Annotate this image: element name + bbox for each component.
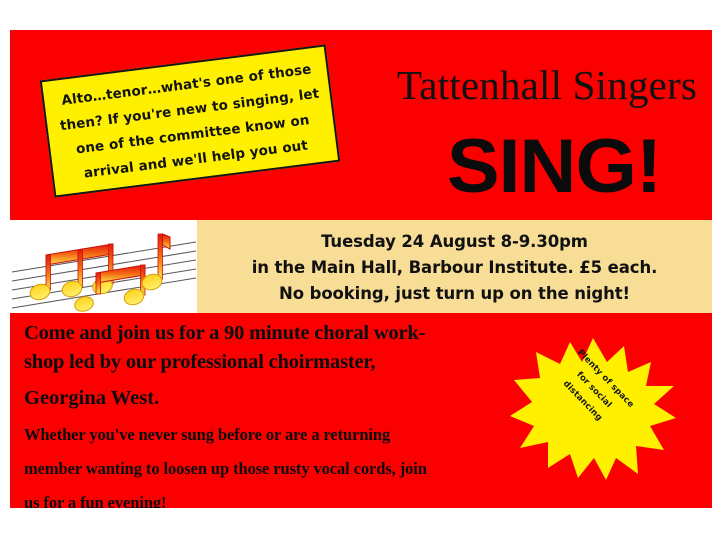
poster-canvas: Tattenhall Singers SING! Alto…tenor…what… [10,30,712,508]
details-line-venue: in the Main Hall, Barbour Institute. £5 … [197,255,712,281]
headline-sing: SING! [390,128,712,206]
voice-part-callout: Alto…tenor…what's one of those then? If … [40,44,341,197]
body-detail-line-1: Whether you've never sung before or are … [24,422,524,447]
page-title: Tattenhall Singers [382,63,712,107]
body-copy: Come and join us for a 90 minute choral … [24,319,524,508]
body-intro-line-1: Come and join us for a 90 minute choral … [24,319,524,348]
body-detail-line-3: us for a fun evening! [24,490,524,509]
details-line-booking: No booking, just turn up on the night! [197,281,712,307]
event-details-box: Tuesday 24 August 8-9.30pm in the Main H… [197,220,712,313]
social-distancing-badge: Plenty of space for social distancing [508,336,678,482]
body-intro-line-2: shop led by our professional choirmaster… [24,348,524,377]
details-line-date: Tuesday 24 August 8-9.30pm [197,229,712,255]
body-detail-line-2: member wanting to loosen up those rusty … [24,456,524,481]
musical-notes-staff [10,220,197,313]
choirmaster-name: Georgina West. [24,384,524,413]
musical-notes-icon [10,220,197,313]
